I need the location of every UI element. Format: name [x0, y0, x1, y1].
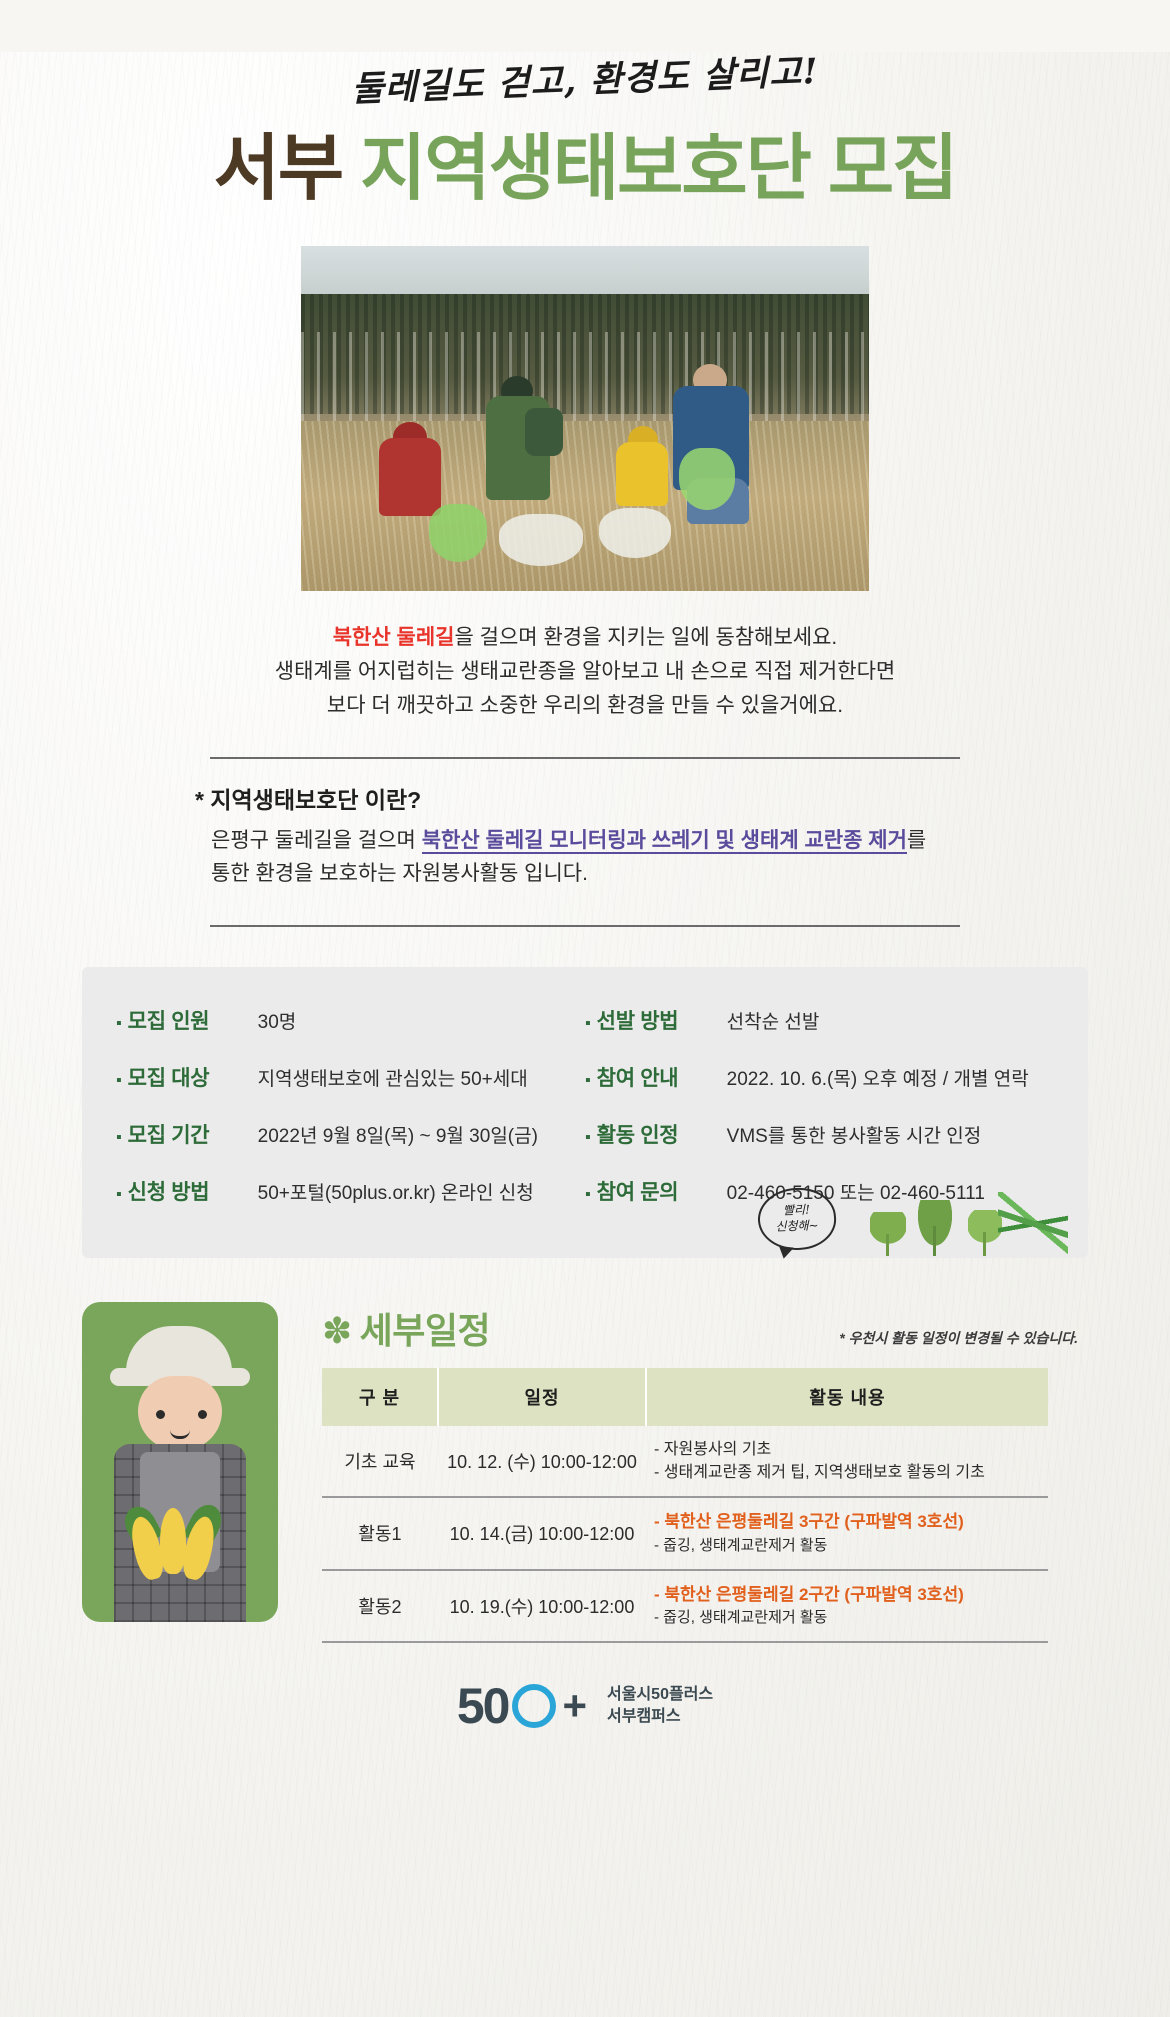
info-value[interactable]: 50+포털(50plus.or.kr) 온라인 신청 [258, 1178, 534, 1205]
table-header-row: 구 분 일정 활동 내용 [322, 1368, 1048, 1426]
info-item-recruit-count: ▪ 모집 인원 30명 [116, 1005, 585, 1035]
info-value: 지역생태보호에 관심있는 50+세대 [258, 1064, 528, 1091]
info-label: 참여 문의 [597, 1176, 713, 1206]
column-header-content: 활동 내용 [646, 1368, 1048, 1426]
info-item-selection-method: ▪ 선발 방법 선착순 선발 [585, 1005, 1054, 1035]
about-title: * 지역생태보호단 이란? [195, 781, 985, 815]
info-label: 활동 인정 [597, 1119, 713, 1149]
table-row: 활동1 10. 14.(금) 10:00-12:00 - 북한산 은평둘레길 3… [322, 1497, 1048, 1569]
mascot-corn-2 [160, 1508, 186, 1574]
info-value: VMS를 통한 봉사활동 시간 인정 [727, 1121, 982, 1148]
bullet-dot-icon: ▪ [116, 1130, 122, 1146]
cell-content: - 북한산 은평둘레길 2구간 (구파발역 3호선) - 줍깅, 생태계교란제거… [646, 1570, 1048, 1642]
info-label: 모집 기간 [128, 1119, 244, 1149]
schedule-body: ✽세부일정 * 우천시 활동 일정이 변경될 수 있습니다. 구 분 일정 활동… [322, 1302, 1088, 1643]
schedule-title: ✽세부일정 [322, 1302, 490, 1354]
grass-icon [998, 1192, 1068, 1258]
logo-plus-text: + [562, 1682, 585, 1730]
content-line: - 줍깅, 생태계교란제거 활동 [654, 1607, 1040, 1629]
schedule-table: 구 분 일정 활동 내용 기초 교육 10. 12. (수) 10:00-12:… [322, 1368, 1048, 1643]
intro-line-1: 북한산 둘레길을 걸으며 환경을 지키는 일에 동참해보세요. [155, 621, 1015, 655]
cell-kind: 활동1 [322, 1497, 438, 1569]
info-label: 모집 인원 [128, 1005, 244, 1035]
bullet-dot-icon: ▪ [116, 1073, 122, 1089]
content-line: - 줍깅, 생태계교란제거 활동 [654, 1535, 1040, 1557]
info-item-activity-credit: ▪ 활동 인정 VMS를 통한 봉사활동 시간 인정 [585, 1119, 1054, 1149]
organization-name: 서울시50플러스 서부캠퍼스 [607, 1684, 713, 1727]
info-value: 2022년 9월 8일(목) ~ 9월 30일(금) [258, 1121, 538, 1148]
photo-child-yellow [616, 442, 668, 506]
schedule-section: ✽세부일정 * 우천시 활동 일정이 변경될 수 있습니다. 구 분 일정 활동… [82, 1302, 1088, 1643]
info-item-target-audience: ▪ 모집 대상 지역생태보호에 관심있는 50+세대 [116, 1062, 585, 1092]
logo-50-text: 50 [457, 1677, 509, 1735]
intro-line-1-rest: 을 걸으며 환경을 지키는 일에 동참해보세요. [455, 626, 838, 649]
table-row: 기초 교육 10. 12. (수) 10:00-12:00 - 자원봉사의 기초… [322, 1426, 1048, 1497]
page-title: 서부 지역생태보호단 모집 [0, 129, 1170, 210]
schedule-title-text: 세부일정 [360, 1310, 490, 1351]
content-line: - 생태계교란종 제거 팁, 지역생태보호 활동의 기초 [654, 1461, 1040, 1484]
hero-photo [301, 246, 869, 591]
divider-top [210, 757, 960, 759]
speech-bubble-text: 빨리! 신청해~ [759, 1189, 835, 1236]
plant-icon-1 [870, 1212, 906, 1254]
mascot-eye-left [156, 1410, 165, 1419]
hero-photo-image [301, 246, 869, 591]
recruitment-info-grid: ▪ 모집 인원 30명 ▪ 선발 방법 선착순 선발 ▪ 모집 대상 지역생태보… [116, 1005, 1054, 1206]
cell-date: 10. 14.(금) 10:00-12:00 [438, 1497, 646, 1569]
divider-bottom [210, 925, 960, 927]
recruitment-info-box: ▪ 모집 인원 30명 ▪ 선발 방법 선착순 선발 ▪ 모집 대상 지역생태보… [82, 967, 1088, 1258]
speech-bubble-line1: 빨리! [783, 1202, 810, 1217]
plant-icon-2 [912, 1200, 958, 1256]
schedule-header-row: ✽세부일정 * 우천시 활동 일정이 변경될 수 있습니다. [322, 1302, 1088, 1354]
asterisk-icon: ✽ [322, 1310, 352, 1351]
info-label: 참여 안내 [597, 1062, 713, 1092]
mascot-eye-right [198, 1410, 207, 1419]
info-label: 신청 방법 [128, 1176, 244, 1206]
photo-white-bag-2 [599, 508, 671, 558]
logo-ring-icon [512, 1684, 556, 1728]
logo-50plus-icon: 50 + [457, 1677, 585, 1735]
info-item-participation-notice: ▪ 참여 안내 2022. 10. 6.(목) 오후 예정 / 개별 연락 [585, 1062, 1054, 1092]
bullet-dot-icon: ▪ [585, 1187, 591, 1203]
cell-kind: 활동2 [322, 1570, 438, 1642]
bullet-dot-icon: ▪ [116, 1016, 122, 1032]
page-title-green: 지역생태보호단 모집 [360, 129, 956, 209]
bullet-dot-icon: ▪ [585, 1016, 591, 1032]
about-body-line2: 통한 환경을 보호하는 자원봉사활동 입니다. [211, 857, 985, 891]
about-body-pre: 은평구 둘레길을 걸으며 [211, 829, 422, 852]
cell-content: - 자원봉사의 기초 - 생태계교란종 제거 팁, 지역생태보호 활동의 기초 [646, 1426, 1048, 1497]
about-body: 은평구 둘레길을 걸으며 북한산 둘레길 모니터링과 쓰레기 및 생태계 교란종… [195, 824, 985, 891]
info-value: 선착순 선발 [727, 1007, 820, 1034]
table-row: 활동2 10. 19.(수) 10:00-12:00 - 북한산 은평둘레길 2… [322, 1570, 1048, 1642]
photo-green-bag-1 [429, 504, 487, 562]
column-header-date: 일정 [438, 1368, 646, 1426]
info-item-recruit-period: ▪ 모집 기간 2022년 9월 8일(목) ~ 9월 30일(금) [116, 1119, 585, 1149]
page-title-brown: 서부 [214, 129, 342, 209]
mascot-illustration [82, 1302, 278, 1622]
organization-line-1: 서울시50플러스 [607, 1684, 713, 1706]
info-label: 모집 대상 [128, 1062, 244, 1092]
footer: 50 + 서울시50플러스 서부캠퍼스 [82, 1677, 1088, 1759]
about-body-highlight: 북한산 둘레길 모니터링과 쓰레기 및 생태계 교란종 제거 [422, 829, 907, 854]
schedule-table-body: 기초 교육 10. 12. (수) 10:00-12:00 - 자원봉사의 기초… [322, 1426, 1048, 1642]
intro-highlight-trail: 북한산 둘레길 [333, 626, 455, 649]
content-line: - 자원봉사의 기초 [654, 1438, 1040, 1461]
photo-white-bag-1 [499, 514, 583, 566]
intro-description: 북한산 둘레길을 걸으며 환경을 지키는 일에 동참해보세요. 생태계를 어지럽… [155, 621, 1015, 723]
info-value: 30명 [258, 1007, 297, 1034]
bullet-dot-icon: ▪ [116, 1187, 122, 1203]
photo-green-bag-2 [679, 448, 735, 510]
poster-page: 둘레길도 걷고, 환경도 살리고! 서부 지역생태보호단 모집 [0, 52, 1170, 1759]
cell-date: 10. 19.(수) 10:00-12:00 [438, 1570, 646, 1642]
bullet-dot-icon: ▪ [585, 1130, 591, 1146]
plant-icon-3 [968, 1210, 1002, 1256]
info-value: 2022. 10. 6.(목) 오후 예정 / 개별 연락 [727, 1064, 1029, 1091]
schedule-table-head: 구 분 일정 활동 내용 [322, 1368, 1048, 1426]
about-section: * 지역생태보호단 이란? 은평구 둘레길을 걸으며 북한산 둘레길 모니터링과… [185, 781, 985, 891]
about-body-post: 를 [907, 829, 926, 852]
speech-bubble-line2: 신청해~ [775, 1218, 819, 1233]
content-line-highlight: - 북한산 은평둘레길 3구간 (구파발역 3호선) [654, 1510, 1040, 1535]
intro-line-2: 생태계를 어지럽히는 생태교란종을 알아보고 내 손으로 직접 제거한다면 [155, 655, 1015, 689]
cell-content: - 북한산 은평둘레길 3구간 (구파발역 3호선) - 줍깅, 생태계교란제거… [646, 1497, 1048, 1569]
photo-backpack [525, 408, 563, 456]
column-header-kind: 구 분 [322, 1368, 438, 1426]
cell-kind: 기초 교육 [322, 1426, 438, 1497]
photo-person-red [379, 438, 441, 516]
poster-tagline: 둘레길도 걷고, 환경도 살리고! [0, 30, 1170, 126]
organization-line-2: 서부캠퍼스 [607, 1706, 713, 1728]
bullet-dot-icon: ▪ [585, 1073, 591, 1089]
info-item-apply-method[interactable]: ▪ 신청 방법 50+포털(50plus.or.kr) 온라인 신청 [116, 1176, 585, 1206]
cell-date: 10. 12. (수) 10:00-12:00 [438, 1426, 646, 1497]
intro-line-3: 보다 더 깨끗하고 소중한 우리의 환경을 만들 수 있을거에요. [155, 689, 1015, 723]
info-label: 선발 방법 [597, 1005, 713, 1035]
speech-bubble-icon: 빨리! 신청해~ [756, 1185, 838, 1252]
content-line-highlight: - 북한산 은평둘레길 2구간 (구파발역 3호선) [654, 1583, 1040, 1608]
schedule-note: * 우천시 활동 일정이 변경될 수 있습니다. [839, 1328, 1078, 1354]
